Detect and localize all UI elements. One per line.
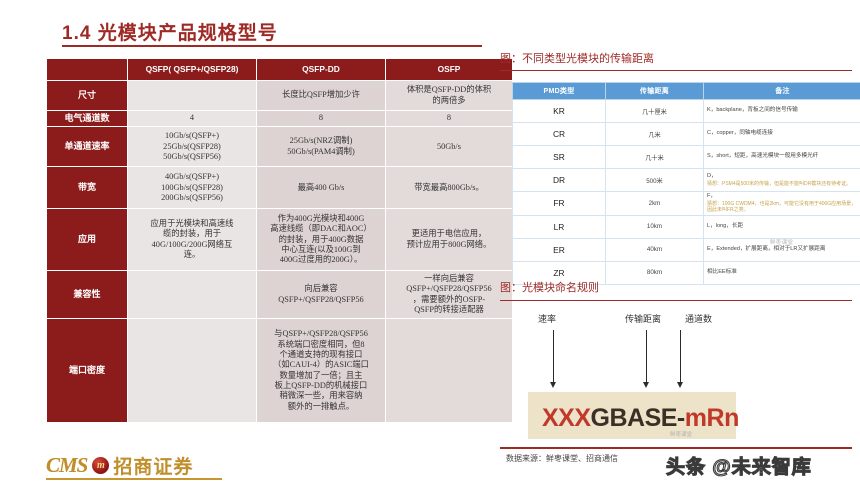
cell-line: 4 — [131, 113, 253, 123]
row-label: 尺寸 — [47, 81, 128, 111]
cms-wordmark: CMS — [46, 453, 87, 478]
table-row: ER40kmE，Extended，扩展距离，相对于LR又扩展距离 — [513, 238, 860, 261]
cell-line: 系统端口密度相同，但8 — [260, 340, 382, 350]
naming-part-n: n — [724, 404, 739, 432]
cell-line: 带宽最高800Gb/s。 — [389, 183, 509, 193]
cell-qsfp: 4 — [128, 111, 257, 127]
table-row: KR几十厘米K，backplane，背板之间的信号传输 — [513, 100, 860, 123]
cell-qsfp — [128, 81, 257, 111]
cell-line: 更适用于电信应用， — [389, 229, 509, 239]
cell-qsfpdd: 与QSFP+/QSFP28/QSFP56系统端口密度相同，但8个通道支持的现有接… — [257, 319, 386, 423]
page-number: - 6 - — [754, 466, 768, 475]
cell-line: 板上QSFP-DD的机械接口 — [260, 381, 382, 391]
table-row: 单通道速率10Gb/s(QSFP+)25Gb/s(QSFP28)50Gb/s(Q… — [47, 127, 513, 167]
table-row: 带宽40Gb/s(QSFP+)100Gb/s(QSFP28)200Gb/s(QS… — [47, 167, 513, 209]
table-row: DR500米D，猜想：PSM4是500米的传输，但是能不能叫DR模块还有待考证。 — [513, 169, 860, 192]
cell-line: 50Gb/s — [389, 142, 509, 152]
cell-line: 向后兼容 — [260, 284, 382, 294]
cms-logo-underline — [46, 478, 222, 480]
row-label: 兼容性 — [47, 271, 128, 319]
cell-qsfp: 40Gb/s(QSFP+)100Gb/s(QSFP28)200Gb/s(QSFP… — [128, 167, 257, 209]
naming-string: XXXGBASE-mRn — [542, 404, 739, 433]
cell-line: 25Gb/s(QSFP28) — [131, 142, 253, 152]
pmd-table: PMD类型 传输距离 备注 KR几十厘米K，backplane，背板之间的信号传… — [512, 82, 860, 285]
cell-osfp: 8 — [386, 111, 513, 127]
cell-pmd-type: LR — [513, 215, 606, 238]
figure2-watermark: 鲜枣课堂 — [670, 430, 692, 438]
cell-line: 中心互连(以及100G到 — [260, 245, 382, 255]
cell-line: 体积是QSFP-DD的体积 — [389, 85, 509, 95]
cell-line: 40Gb/s(QSFP+) — [131, 172, 253, 182]
cell-osfp: 带宽最高800Gb/s。 — [386, 167, 513, 209]
cell-note: K，backplane，背板之间的信号传输 — [704, 100, 860, 123]
source-text: 数据来源：鲜枣课堂、招商通信 — [506, 453, 618, 464]
cell-line: 的两倍多 — [389, 96, 509, 106]
cell-line: 连。 — [131, 250, 253, 260]
figure2-caption: 图：光模块命名规则 — [500, 279, 599, 295]
cell-qsfpdd: 长度比QSFP增加少许 — [257, 81, 386, 111]
label-rate: 速率 — [538, 312, 556, 325]
pmd-header-row: PMD类型 传输距离 备注 — [513, 83, 860, 100]
table-row: 端口密度与QSFP+/QSFP28/QSFP56系统端口密度相同，但8个通道支持… — [47, 319, 513, 423]
row-label: 带宽 — [47, 167, 128, 209]
table-row: FR2kmF，猜想：100G CWDM4，也是2km，可能它没有用于400G应用… — [513, 192, 860, 216]
cell-note-sub: 猜想：PSM4是500米的传输，但是能不能叫DR模块还有待考证。 — [707, 181, 858, 188]
cell-pmd-type: FR — [513, 192, 606, 216]
cell-distance: 500米 — [606, 169, 704, 192]
cell-line: 长度比QSFP增加少许 — [260, 90, 382, 100]
naming-part-gbase: GBASE- — [591, 404, 685, 432]
cell-distance: 2km — [606, 192, 704, 216]
cell-qsfp — [128, 319, 257, 423]
row-label: 单通道速率 — [47, 127, 128, 167]
cell-pmd-type: ER — [513, 238, 606, 261]
cell-line: 40G/100G/200G网络互 — [131, 240, 253, 250]
table-row: LR10kmL，long，长距 — [513, 215, 860, 238]
cell-line: 最高400 Gb/s — [260, 183, 382, 193]
cell-note: C，copper，同轴电缆连接 — [704, 123, 860, 146]
cell-line: 10Gb/s(QSFP+) — [131, 131, 253, 141]
cms-chinese-name: 招商证券 — [113, 452, 193, 479]
cell-line: 8 — [260, 113, 382, 123]
cell-line: 200Gb/s(QSFP56) — [131, 193, 253, 203]
naming-part-mr: mR — [685, 404, 724, 432]
cell-line: 与QSFP+/QSFP28/QSFP56 — [260, 329, 382, 339]
cell-line: 8 — [389, 113, 509, 123]
cell-line: 数量增加了一倍；且主 — [260, 371, 382, 381]
cell-distance: 40km — [606, 238, 704, 261]
cell-line: QSFP+/QSFP28/QSFP56 — [389, 284, 509, 294]
cell-line: 一样向后兼容 — [389, 274, 509, 284]
arrow-line-distance — [646, 330, 647, 382]
table-row: CR几米C，copper，同轴电缆连接 — [513, 123, 860, 146]
figure1-divider — [500, 70, 852, 71]
arrow-head-rate — [550, 382, 556, 388]
naming-diagram: 速率 传输距离 通道数 XXXGBASE-mRn 鲜枣课堂 — [520, 312, 820, 442]
cell-line: 作为400G光模块和400G — [260, 214, 382, 224]
spec-table: QSFP( QSFP+/QSFP28) QSFP-DD OSFP 尺寸长度比QS… — [46, 58, 513, 423]
cell-pmd-type: KR — [513, 100, 606, 123]
cell-line: QSFP的转接适配器 — [389, 305, 509, 315]
cell-qsfp: 应用于光模块和高速线缆的封装，用于40G/100G/200G网络互连。 — [128, 209, 257, 271]
cell-line: 400G过度用的200G）。 — [260, 255, 382, 265]
cell-qsfp — [128, 271, 257, 319]
arrow-line-lanes — [680, 330, 681, 382]
cell-osfp: 50Gb/s — [386, 127, 513, 167]
pmd-column-type: PMD类型 — [513, 83, 606, 100]
row-label: 应用 — [47, 209, 128, 271]
cell-distance: 10km — [606, 215, 704, 238]
arrow-head-distance — [643, 382, 649, 388]
label-lanes: 通道数 — [685, 312, 712, 325]
cell-distance: 几米 — [606, 123, 704, 146]
column-header-osfp: OSFP — [386, 59, 513, 81]
column-header-corner — [47, 59, 128, 81]
cms-seal-icon: m — [92, 457, 109, 474]
figure1-caption: 图：不同类型光模块的传输距离 — [500, 50, 654, 66]
cell-note: F，猜想：100G CWDM4，也是2km，可能它没有用于400G应用场景，因此… — [704, 192, 860, 216]
cell-line: 缆的封装，用于 — [131, 229, 253, 239]
label-distance: 传输距离 — [625, 312, 661, 325]
cell-qsfp: 10Gb/s(QSFP+)25Gb/s(QSFP28)50Gb/s(QSFP56… — [128, 127, 257, 167]
cell-line: 50Gb/s(PAM4调制) — [260, 147, 382, 157]
source-divider — [500, 447, 852, 449]
cell-note: 相比EE标准 — [704, 261, 860, 284]
cell-note: D，猜想：PSM4是500米的传输，但是能不能叫DR模块还有待考证。 — [704, 169, 860, 192]
cell-line: 预计应用于800G网络。 — [389, 240, 509, 250]
cell-distance: 几十厘米 — [606, 100, 704, 123]
cell-line: 25Gb/s(NRZ调制) — [260, 136, 382, 146]
cell-osfp: 更适用于电信应用，预计应用于800G网络。 — [386, 209, 513, 271]
cell-qsfpdd: 作为400G光模块和400G高速线缆（即DAC和AOC）的封装，用于400G数据… — [257, 209, 386, 271]
cell-qsfpdd: 向后兼容QSFP+/QSFP28/QSFP56 — [257, 271, 386, 319]
cell-osfp: 体积是QSFP-DD的体积的两倍多 — [386, 81, 513, 111]
figure2-divider — [500, 300, 852, 301]
cell-line: 高速线缆（即DAC和AOC） — [260, 224, 382, 234]
table-row: 电气通道数488 — [47, 111, 513, 127]
column-header-qsfpdd: QSFP-DD — [257, 59, 386, 81]
table-row: 应用应用于光模块和高速线缆的封装，用于40G/100G/200G网络互连。作为4… — [47, 209, 513, 271]
table-row: SR几十米S，short，短距，高速光模块一般用多模光纤 — [513, 146, 860, 169]
cell-osfp — [386, 319, 513, 423]
cell-pmd-type: SR — [513, 146, 606, 169]
cell-qsfpdd: 25Gb/s(NRZ调制)50Gb/s(PAM4调制) — [257, 127, 386, 167]
cell-note: S，short，短距，高速光模块一般用多模光纤 — [704, 146, 860, 169]
table-header-row: QSFP( QSFP+/QSFP28) QSFP-DD OSFP — [47, 59, 513, 81]
cell-note: L，long，长距 — [704, 215, 860, 238]
cell-osfp: 一样向后兼容QSFP+/QSFP28/QSFP56，需要额外的OSFP-QSFP… — [386, 271, 513, 319]
cell-pmd-type: DR — [513, 169, 606, 192]
cell-line: 应用于光模块和高速线 — [131, 219, 253, 229]
cell-line: 100Gb/s(QSFP28) — [131, 183, 253, 193]
naming-part-xxx: XXX — [542, 404, 591, 432]
cell-line: 的封装，用于400G数据 — [260, 235, 382, 245]
column-header-qsfp: QSFP( QSFP+/QSFP28) — [128, 59, 257, 81]
cell-pmd-type: CR — [513, 123, 606, 146]
cell-distance: 几十米 — [606, 146, 704, 169]
pmd-column-distance: 传输距离 — [606, 83, 704, 100]
row-label: 端口密度 — [47, 319, 128, 423]
cell-qsfpdd: 8 — [257, 111, 386, 127]
table-row: 兼容性向后兼容QSFP+/QSFP28/QSFP56一样向后兼容QSFP+/QS… — [47, 271, 513, 319]
table-row: 尺寸长度比QSFP增加少许体积是QSFP-DD的体积的两倍多 — [47, 81, 513, 111]
cell-line: 额外的一排触点。 — [260, 402, 382, 412]
cell-note-sub: 猜想：100G CWDM4，也是2km，可能它没有用于400G应用场景，因此未叫… — [707, 201, 858, 214]
cell-distance: 80km — [606, 261, 704, 284]
arrow-line-rate — [553, 330, 554, 382]
cell-line: QSFP+/QSFP28/QSFP56 — [260, 295, 382, 305]
row-label: 电气通道数 — [47, 111, 128, 127]
page-watermark: 头条 @未来智库 — [666, 452, 812, 479]
page-title: 1.4 光模块产品规格型号 — [62, 18, 278, 45]
cell-line: 个通道支持的现有接口 — [260, 350, 382, 360]
pmd-column-note: 备注 — [704, 83, 860, 100]
arrow-head-lanes — [677, 382, 683, 388]
cell-qsfpdd: 最高400 Gb/s — [257, 167, 386, 209]
figure1-watermark: 鲜枣课堂 — [770, 238, 793, 246]
cell-line: ，需要额外的OSFP- — [389, 295, 509, 305]
title-divider — [62, 45, 482, 47]
cms-logo: CMS m 招商证券 — [46, 452, 193, 478]
cell-line: 稍微深一些，用来容纳 — [260, 391, 382, 401]
cell-line: （如CAUI-4）的ASIC端口 — [260, 360, 382, 370]
cell-line: 50Gb/s(QSFP56) — [131, 152, 253, 162]
